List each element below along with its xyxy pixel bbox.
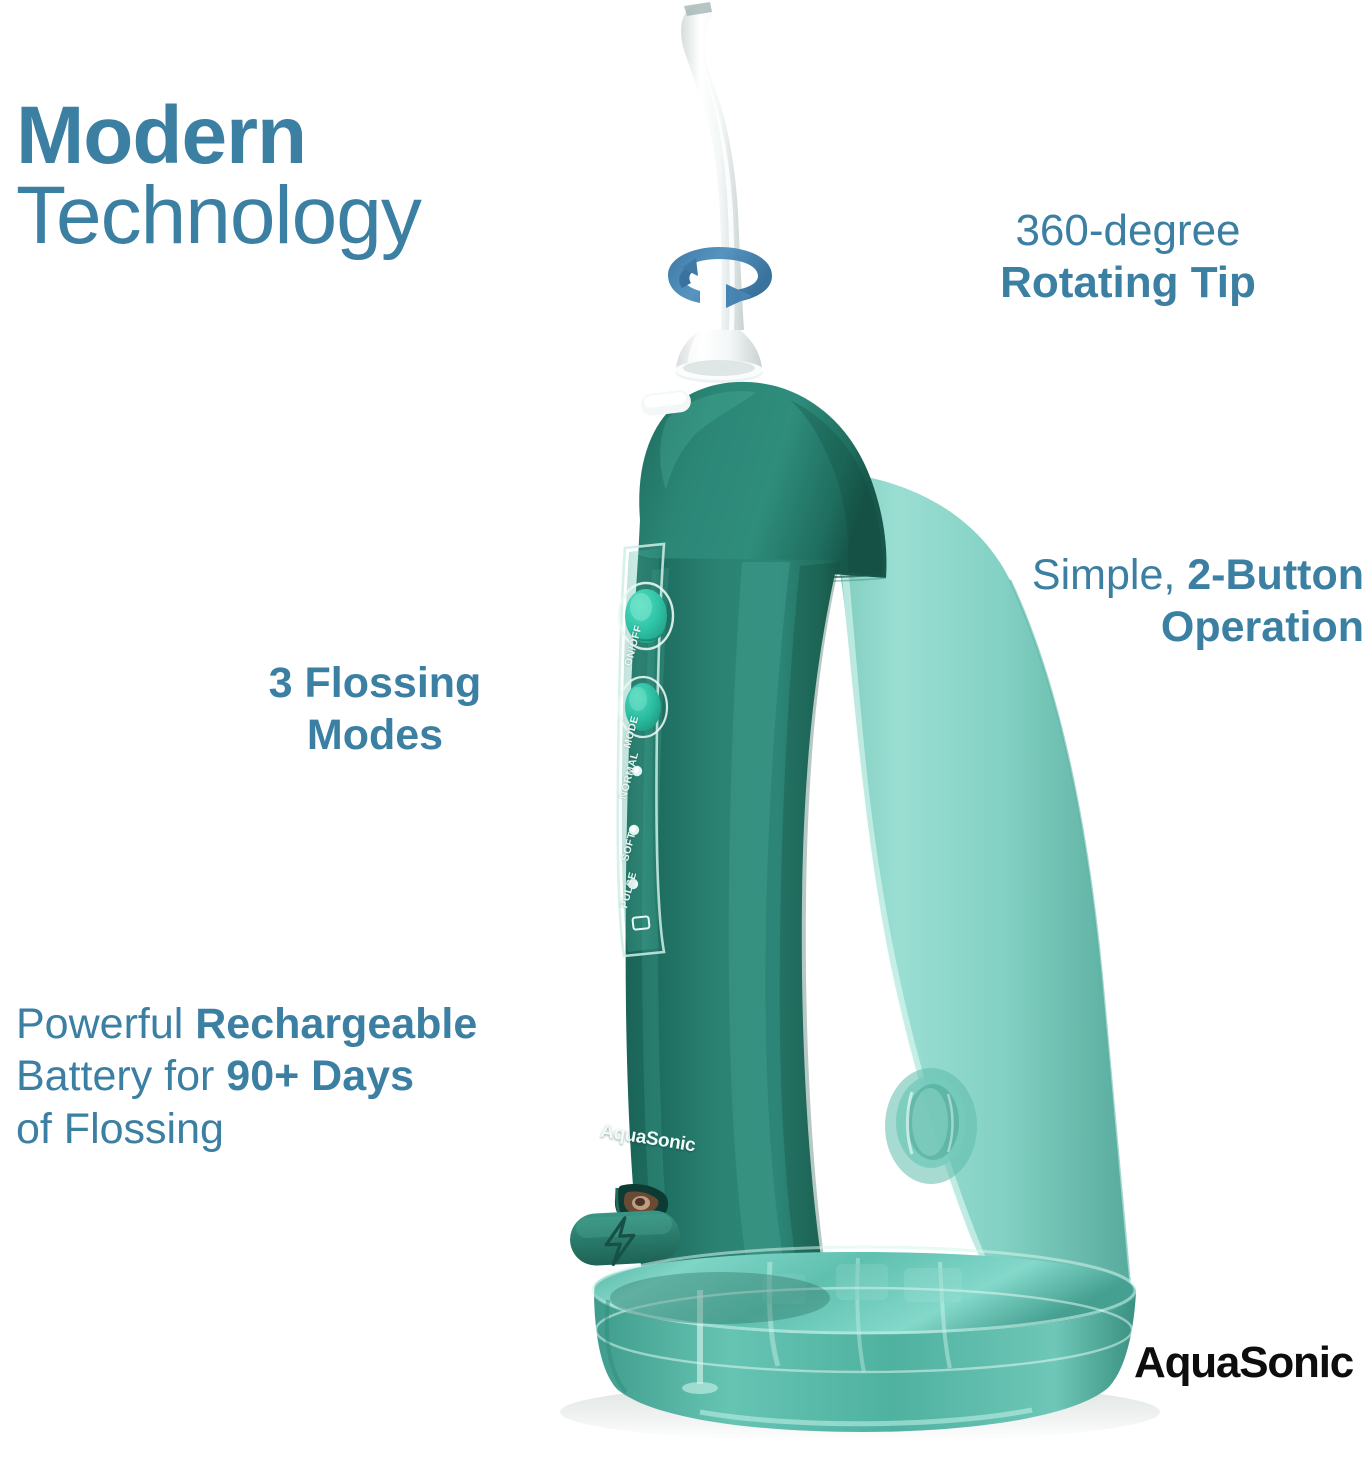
callout-flossing-modes: 3 Flossing Modes bbox=[210, 658, 540, 761]
mode-button-label: MODE bbox=[621, 714, 641, 749]
headline-line-1: Modern bbox=[16, 96, 616, 176]
pulse-glyph-icon bbox=[632, 916, 649, 930]
callout-battery: Powerful Rechargeable Battery for 90+ Da… bbox=[16, 998, 596, 1155]
callout-battery-line-2: Battery for 90+ Days bbox=[16, 1050, 596, 1102]
circular-rotation-arrow-icon bbox=[668, 247, 772, 308]
callout-battery-line-3: of Flossing bbox=[16, 1103, 596, 1155]
callout-battery-seg-1: Powerful bbox=[16, 1000, 195, 1048]
callout-rotating-tip: 360-degree Rotating Tip bbox=[918, 205, 1338, 309]
callout-two-button-line-1: Simple, 2-Button bbox=[946, 550, 1364, 602]
mode-option-soft: SOFT bbox=[619, 831, 638, 863]
device-brand-logo: AquaSonic bbox=[599, 1121, 697, 1158]
tank-valve-plug bbox=[885, 1068, 977, 1184]
callout-battery-seg-3: Battery for bbox=[16, 1052, 226, 1100]
callout-rotating-tip-bold: Rotating Tip bbox=[918, 257, 1338, 309]
nozzle-release-tab bbox=[640, 389, 692, 417]
power-button-label: ON/OFF bbox=[622, 624, 644, 668]
ground-shadow bbox=[560, 1382, 1160, 1442]
callout-flossing-modes-line-1: 3 Flossing bbox=[210, 658, 540, 710]
rotating-nozzle-tip bbox=[675, 2, 763, 383]
brand-logo: AquaSonic bbox=[1134, 1338, 1353, 1388]
callout-two-button-line-2: Operation bbox=[946, 602, 1364, 654]
page-title: Modern Technology bbox=[16, 96, 616, 257]
callout-flossing-modes-line-2: Modes bbox=[210, 710, 540, 762]
device-body bbox=[626, 382, 887, 1310]
charging-port bbox=[569, 1184, 682, 1267]
lightning-bolt-icon bbox=[605, 1217, 635, 1264]
infographic-canvas: Modern Technology 360-degree Rotating Ti… bbox=[0, 0, 1365, 1466]
headline-line-2: Technology bbox=[16, 176, 616, 256]
charging-port-cover bbox=[569, 1209, 682, 1267]
callout-two-button-bold: 2-Button bbox=[1187, 551, 1364, 599]
callout-battery-seg-2: Rechargeable bbox=[195, 1000, 477, 1048]
callout-battery-line-1: Powerful Rechargeable bbox=[16, 998, 596, 1050]
power-button bbox=[619, 583, 673, 649]
tank-base bbox=[593, 1247, 1136, 1432]
callout-two-button-operation: Simple, 2-Button Operation bbox=[946, 550, 1364, 653]
callout-battery-seg-4: 90+ Days bbox=[226, 1052, 414, 1100]
callout-two-button-light: Simple, bbox=[1032, 551, 1187, 599]
callout-rotating-tip-light: 360-degree bbox=[918, 205, 1338, 257]
mode-option-normal: NORMAL bbox=[617, 751, 641, 801]
mode-option-pulse: PULSE bbox=[618, 871, 639, 910]
